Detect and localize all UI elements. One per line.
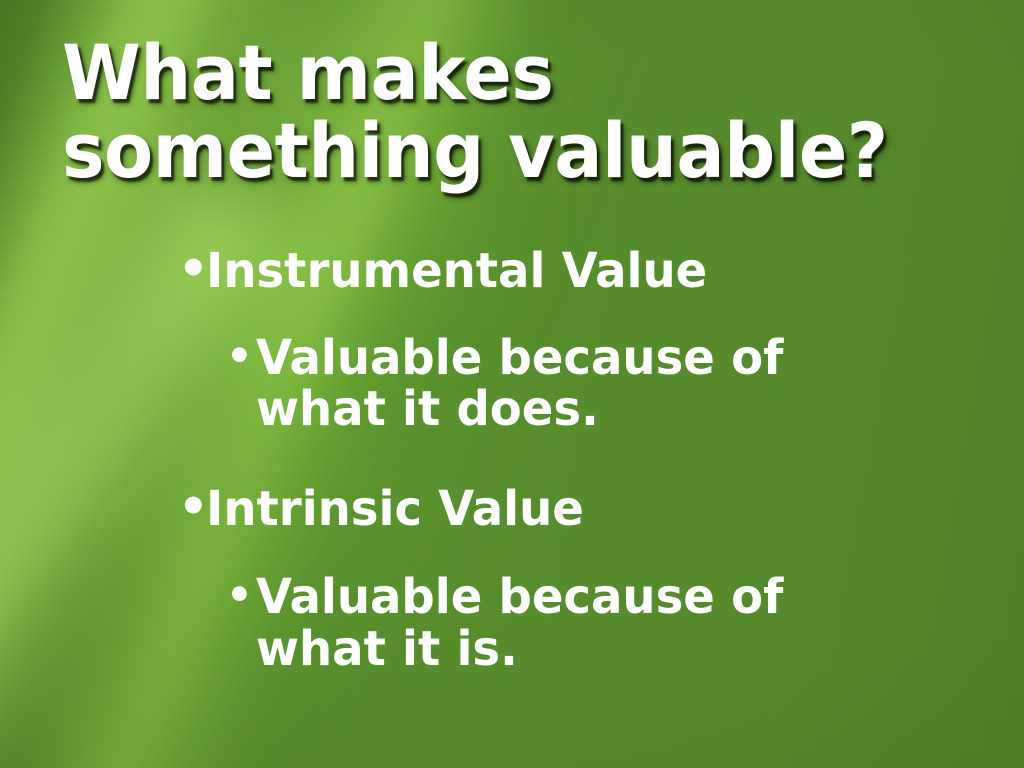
slide-title: What makes something valuable? xyxy=(62,34,927,189)
bullet-text: Intrinsic Value xyxy=(206,484,999,535)
bullet-dot-icon: • xyxy=(178,483,206,531)
bullet-text: Valuable because of what it is. xyxy=(256,572,877,675)
slide-body: • Instrumental Value • Valuable because … xyxy=(0,246,1024,675)
presentation-slide: What makes something valuable? • Instrum… xyxy=(0,0,1024,768)
bullet-item-level1: • Intrinsic Value xyxy=(0,484,1024,535)
bullet-item-level1: • Instrumental Value xyxy=(0,246,1024,297)
bullet-item-level2: • Valuable because of what it does. xyxy=(0,333,1024,436)
spacer xyxy=(0,305,1024,333)
bullet-dot-icon: • xyxy=(226,574,256,616)
slide-content: What makes something valuable? • Instrum… xyxy=(0,0,1024,768)
bullet-item-level2: • Valuable because of what it is. xyxy=(0,572,1024,675)
spacer xyxy=(0,436,1024,484)
bullet-dot-icon: • xyxy=(178,245,206,293)
bullet-text: Instrumental Value xyxy=(206,246,999,297)
bullet-text: Valuable because of what it does. xyxy=(256,333,877,436)
bullet-dot-icon: • xyxy=(226,335,256,377)
spacer xyxy=(0,542,1024,572)
